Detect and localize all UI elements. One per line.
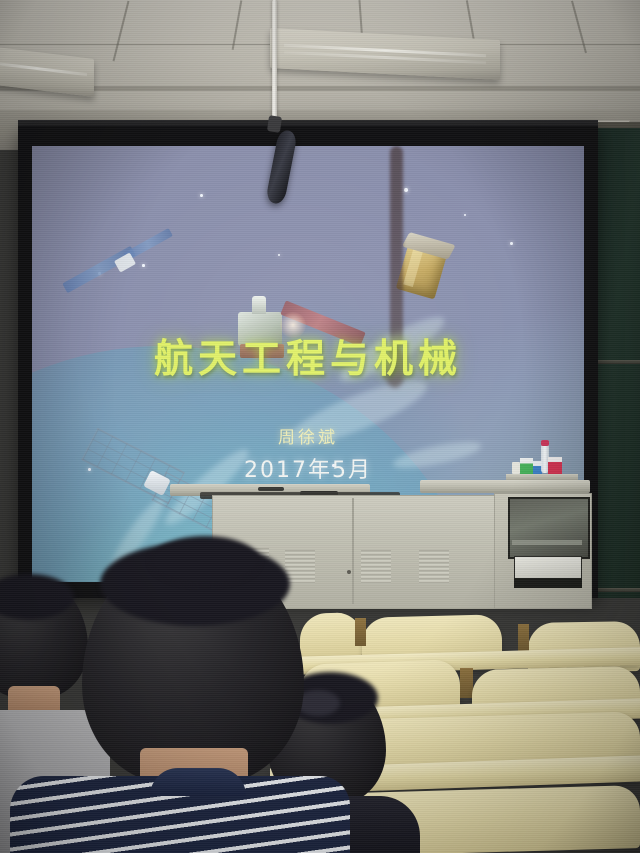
ceiling-tile-seam bbox=[232, 0, 242, 50]
white-box bbox=[512, 462, 520, 474]
ceiling-light-fixture bbox=[270, 28, 500, 80]
star bbox=[278, 254, 280, 256]
ceiling-tile-seam bbox=[571, 1, 586, 54]
green-box bbox=[520, 458, 533, 474]
cabinet-vent bbox=[361, 550, 391, 584]
seat-divider bbox=[518, 624, 529, 652]
equipment-label bbox=[514, 578, 582, 588]
fluorescent-tube bbox=[0, 61, 87, 76]
podium-top-right bbox=[420, 480, 590, 493]
star bbox=[200, 194, 203, 197]
cabinet-door-seam bbox=[352, 498, 354, 604]
chalk-rail bbox=[592, 588, 640, 592]
chalk-rail bbox=[592, 360, 640, 364]
seat-divider bbox=[355, 618, 366, 646]
seat-back[interactable] bbox=[300, 612, 362, 660]
star bbox=[404, 188, 408, 192]
ceiling-beam bbox=[0, 86, 640, 91]
cabinet-lock[interactable] bbox=[347, 570, 351, 574]
equipment-shelf bbox=[512, 540, 582, 545]
lecture-hall-photo: 航天工程与机械 周徐斌 2017年5月 bbox=[0, 0, 640, 853]
slide-title: 航天工程与机械 bbox=[32, 328, 584, 384]
red-box bbox=[548, 457, 562, 474]
cabinet-vent bbox=[419, 550, 449, 584]
equipment-bay bbox=[508, 497, 590, 559]
star bbox=[510, 242, 513, 245]
equipment-front-panel bbox=[514, 556, 582, 580]
satellite-blue-solar-array bbox=[60, 238, 180, 298]
desk-shelf-surface bbox=[506, 474, 578, 480]
microphone-rod bbox=[272, 0, 277, 120]
desk-microphone bbox=[258, 487, 284, 491]
shirt-collar bbox=[150, 768, 246, 796]
ceiling bbox=[0, 0, 640, 130]
star bbox=[464, 214, 466, 216]
microphone-clip bbox=[267, 115, 282, 133]
hair bbox=[150, 536, 260, 586]
ceiling-tile-seam bbox=[113, 1, 129, 62]
bottle-cap bbox=[541, 440, 549, 446]
satellite-antenna bbox=[252, 296, 266, 314]
slide-author: 周徐斌 bbox=[32, 423, 584, 448]
